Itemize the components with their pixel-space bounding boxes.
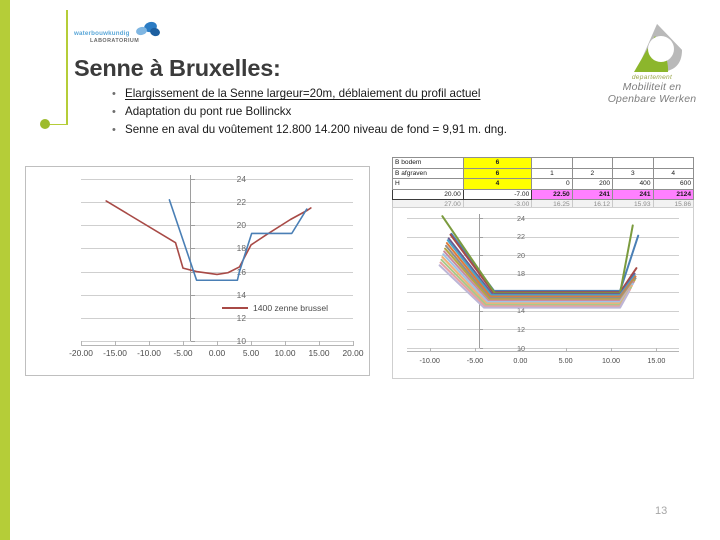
- chart-right-series-layer: [407, 218, 679, 348]
- cross-section-chart-left: 1012141618202224 -20.00-15.00-10.00-5.00…: [25, 166, 370, 376]
- logo-line1: waterbouwkundig: [74, 30, 152, 37]
- column-header[interactable]: 2: [572, 168, 612, 179]
- column-header[interactable]: 1: [532, 168, 572, 179]
- cell[interactable]: -7.00: [463, 189, 532, 200]
- cell[interactable]: 2124: [653, 189, 693, 200]
- x-tick-label: 5.00: [546, 356, 586, 365]
- mow-line1: Mobiliteit en: [596, 81, 708, 93]
- parameter-table[interactable]: B bodem 6 B afgraven 6 1 2 3 4 H: [392, 157, 694, 207]
- cell[interactable]: 600: [653, 179, 693, 190]
- chart-right-x-axis: [407, 351, 679, 352]
- waterbouwkundig-logo: waterbouwkundig LABORATORIUM: [74, 18, 174, 48]
- cell[interactable]: 22.50: [532, 189, 572, 200]
- table-row-selected[interactable]: 20.00 -7.00 22.50 241 241 2124: [393, 189, 694, 200]
- chart-left-series-layer: [81, 179, 353, 341]
- x-tick-mark: [475, 348, 476, 352]
- page-title: Senne à Bruxelles:: [74, 55, 281, 82]
- x-tick-label: 20.00: [333, 348, 373, 358]
- x-tick-mark: [115, 341, 116, 346]
- spreadsheet-panel: B bodem 6 B afgraven 6 1 2 3 4 H: [392, 157, 694, 379]
- bullet-dot-icon: •: [112, 86, 125, 103]
- mow-line2: Openbare Werken: [596, 93, 708, 105]
- cell[interactable]: 241: [613, 189, 653, 200]
- bracket-vertical-line: [66, 10, 68, 125]
- table-row[interactable]: B bodem 6: [393, 158, 694, 169]
- series-line: [106, 201, 311, 274]
- cross-section-chart-right: 1012141618202224 -10.00-5.000.005.0010.0…: [392, 207, 694, 379]
- x-tick-mark: [566, 348, 567, 352]
- cell[interactable]: [653, 158, 693, 169]
- bracket-dot-icon: [40, 119, 50, 129]
- x-tick-mark: [353, 341, 354, 346]
- cell[interactable]: [572, 158, 612, 169]
- x-tick-mark: [430, 348, 431, 352]
- mow-mark-icon: [624, 22, 686, 74]
- cell[interactable]: 200: [572, 179, 612, 190]
- mow-departement-label: departement: [596, 74, 708, 81]
- column-header[interactable]: 3: [613, 168, 653, 179]
- legend-swatch: [222, 307, 248, 309]
- left-accent-bar: [0, 0, 10, 540]
- cell[interactable]: 0: [532, 179, 572, 190]
- chart-left-legend: 1400 zenne brussel: [222, 303, 328, 313]
- x-tick-mark: [217, 341, 218, 346]
- column-header[interactable]: 4: [653, 168, 693, 179]
- mow-logo: departement Mobiliteit en Openbare Werke…: [596, 22, 708, 104]
- input-cell-b-afgraven[interactable]: 6: [463, 168, 532, 179]
- x-tick-label: -5.00: [455, 356, 495, 365]
- cell[interactable]: 400: [613, 179, 653, 190]
- bracket-horizontal-line: [48, 124, 67, 126]
- x-tick-label: -10.00: [410, 356, 450, 365]
- x-tick-mark: [520, 348, 521, 352]
- legend-label: 1400 zenne brussel: [253, 303, 328, 313]
- x-tick-label: 15.00: [636, 356, 676, 365]
- y-tick-mark: [480, 348, 483, 349]
- bullet-text: Adaptation du pont rue Bollinckx: [125, 104, 291, 121]
- x-tick-label: 0.00: [500, 356, 540, 365]
- bullet-list: • Elargissement de la Senne largeur=20m,…: [112, 86, 592, 140]
- x-tick-mark: [319, 341, 320, 346]
- table-row[interactable]: B afgraven 6 1 2 3 4: [393, 168, 694, 179]
- cell[interactable]: [532, 158, 572, 169]
- y-tick-mark: [191, 341, 195, 342]
- input-cell-h[interactable]: 4: [463, 179, 532, 190]
- row-label: B afgraven: [393, 168, 464, 179]
- row-label: H: [393, 179, 464, 190]
- input-cell-b-bodem[interactable]: 6: [463, 158, 532, 169]
- bullet-text: Elargissement de la Senne largeur=20m, d…: [125, 86, 480, 103]
- table-row[interactable]: H 4 0 200 400 600: [393, 179, 694, 190]
- x-tick-label: 10.00: [591, 356, 631, 365]
- bullet-dot-icon: •: [112, 122, 125, 139]
- row-label: B bodem: [393, 158, 464, 169]
- page-number: 13: [655, 505, 667, 517]
- list-item: • Senne en aval du voûtement 12.800 14.2…: [112, 122, 592, 139]
- cell[interactable]: [613, 158, 653, 169]
- slide-root: waterbouwkundig LABORATORIUM departement…: [0, 0, 720, 540]
- x-tick-mark: [81, 341, 82, 346]
- bullet-dot-icon: •: [112, 104, 125, 121]
- list-item: • Elargissement de la Senne largeur=20m,…: [112, 86, 592, 103]
- bullet-text: Senne en aval du voûtement 12.800 14.200…: [125, 122, 507, 139]
- gridline: [407, 348, 679, 349]
- x-tick-mark: [183, 341, 184, 346]
- x-tick-mark: [611, 348, 612, 352]
- x-tick-mark: [285, 341, 286, 346]
- x-tick-mark: [656, 348, 657, 352]
- cell[interactable]: 20.00: [393, 189, 464, 200]
- x-tick-mark: [251, 341, 252, 346]
- logo-line2: LABORATORIUM: [90, 38, 168, 44]
- cell[interactable]: 241: [572, 189, 612, 200]
- x-tick-mark: [149, 341, 150, 346]
- list-item: • Adaptation du pont rue Bollinckx: [112, 104, 592, 121]
